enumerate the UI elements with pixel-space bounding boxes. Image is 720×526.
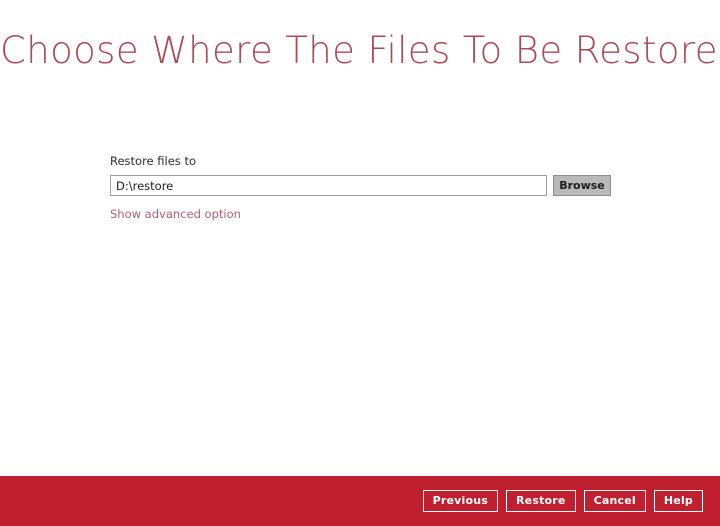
help-button[interactable]: Help xyxy=(654,490,703,512)
wizard-footer: Previous Restore Cancel Help xyxy=(0,476,720,526)
browse-button[interactable]: Browse xyxy=(553,175,611,196)
previous-button[interactable]: Previous xyxy=(423,490,498,512)
restore-destination-form: Restore files to Browse Show advanced op… xyxy=(110,155,612,222)
restore-wizard-page: Choose Where The Files To Be Restored Re… xyxy=(0,0,720,526)
path-input-row: Browse xyxy=(110,175,612,196)
cancel-button[interactable]: Cancel xyxy=(584,490,646,512)
restore-button[interactable]: Restore xyxy=(506,490,576,512)
wizard-content: Restore files to Browse Show advanced op… xyxy=(0,71,720,476)
restore-path-input[interactable] xyxy=(110,175,547,196)
page-title: Choose Where The Files To Be Restored xyxy=(0,30,720,71)
restore-files-to-label: Restore files to xyxy=(110,155,612,169)
show-advanced-option-link[interactable]: Show advanced option xyxy=(110,207,241,221)
title-area: Choose Where The Files To Be Restored xyxy=(0,0,720,71)
